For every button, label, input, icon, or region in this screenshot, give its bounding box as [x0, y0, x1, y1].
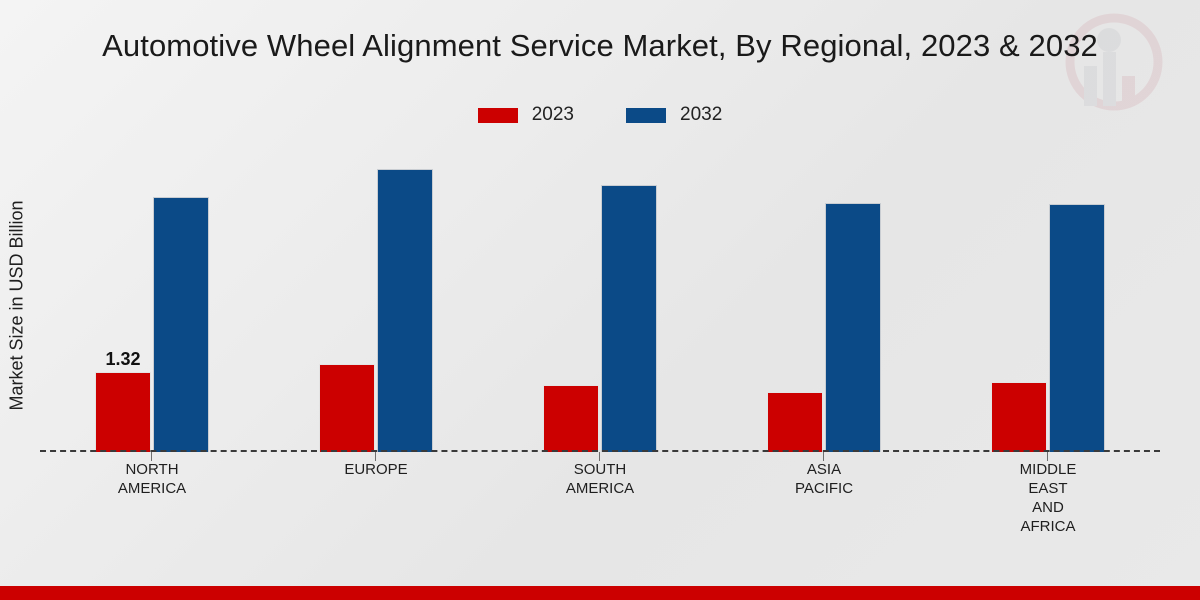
- x-axis-label-line: AMERICA: [488, 479, 712, 498]
- chart-title: Automotive Wheel Alignment Service Marke…: [0, 28, 1200, 64]
- x-axis-label: MIDDLEEASTANDAFRICA: [936, 460, 1160, 536]
- legend-label-2032: 2032: [680, 104, 722, 126]
- bar-2032[interactable]: [601, 185, 657, 452]
- legend-item-2032[interactable]: 2032: [626, 104, 722, 126]
- legend-swatch-2023: [478, 108, 518, 123]
- bar-group: [712, 150, 936, 452]
- bar-2032[interactable]: [377, 169, 433, 452]
- x-axis-label: NORTHAMERICA: [40, 460, 264, 536]
- bar-2023[interactable]: [543, 385, 599, 452]
- x-axis-label-line: AND: [936, 498, 1160, 517]
- x-axis-label-line: EAST: [936, 479, 1160, 498]
- bar-2032[interactable]: [825, 203, 881, 452]
- plot-area: 1.32: [40, 150, 1160, 452]
- x-axis-label-line: MIDDLE: [936, 460, 1160, 479]
- x-axis-label-line: SOUTH: [488, 460, 712, 479]
- bar-group-bars: 1.32: [40, 150, 264, 452]
- x-axis-label-line: EUROPE: [264, 460, 488, 479]
- bar-2023[interactable]: [767, 392, 823, 452]
- x-axis-label-line: NORTH: [40, 460, 264, 479]
- bar-2032[interactable]: [153, 197, 209, 452]
- bar-group-bars: [488, 150, 712, 452]
- x-axis-label-line: PACIFIC: [712, 479, 936, 498]
- bar-group-bars: [264, 150, 488, 452]
- x-axis-label: ASIAPACIFIC: [712, 460, 936, 536]
- legend-item-2023[interactable]: 2023: [478, 104, 574, 126]
- x-axis-label: EUROPE: [264, 460, 488, 536]
- x-axis-label-line: AFRICA: [936, 517, 1160, 536]
- bar-value-label: 1.32: [105, 349, 140, 370]
- x-axis-labels: NORTHAMERICAEUROPESOUTHAMERICAASIAPACIFI…: [40, 460, 1160, 536]
- bar-group: [264, 150, 488, 452]
- bar-groups: 1.32: [40, 150, 1160, 452]
- bar-2023[interactable]: 1.32: [95, 372, 151, 452]
- legend-label-2023: 2023: [532, 104, 574, 126]
- bar-group: [936, 150, 1160, 452]
- x-axis-label-line: ASIA: [712, 460, 936, 479]
- x-axis-label: SOUTHAMERICA: [488, 460, 712, 536]
- bar-group-bars: [936, 150, 1160, 452]
- bar-group-bars: [712, 150, 936, 452]
- chart-figure: Automotive Wheel Alignment Service Marke…: [0, 0, 1200, 600]
- legend-swatch-2032: [626, 108, 666, 123]
- bar-group: [488, 150, 712, 452]
- x-axis-baseline: [40, 450, 1160, 452]
- y-axis-title-text: Market Size in USD Billion: [7, 200, 28, 410]
- bar-2023[interactable]: [319, 364, 375, 452]
- bar-2023[interactable]: [991, 382, 1047, 452]
- y-axis-title: Market Size in USD Billion: [2, 140, 32, 470]
- x-axis-label-line: AMERICA: [40, 479, 264, 498]
- bar-2032[interactable]: [1049, 204, 1105, 452]
- bar-group: 1.32: [40, 150, 264, 452]
- chart-legend: 2023 2032: [0, 104, 1200, 126]
- footer-accent-strip: [0, 586, 1200, 600]
